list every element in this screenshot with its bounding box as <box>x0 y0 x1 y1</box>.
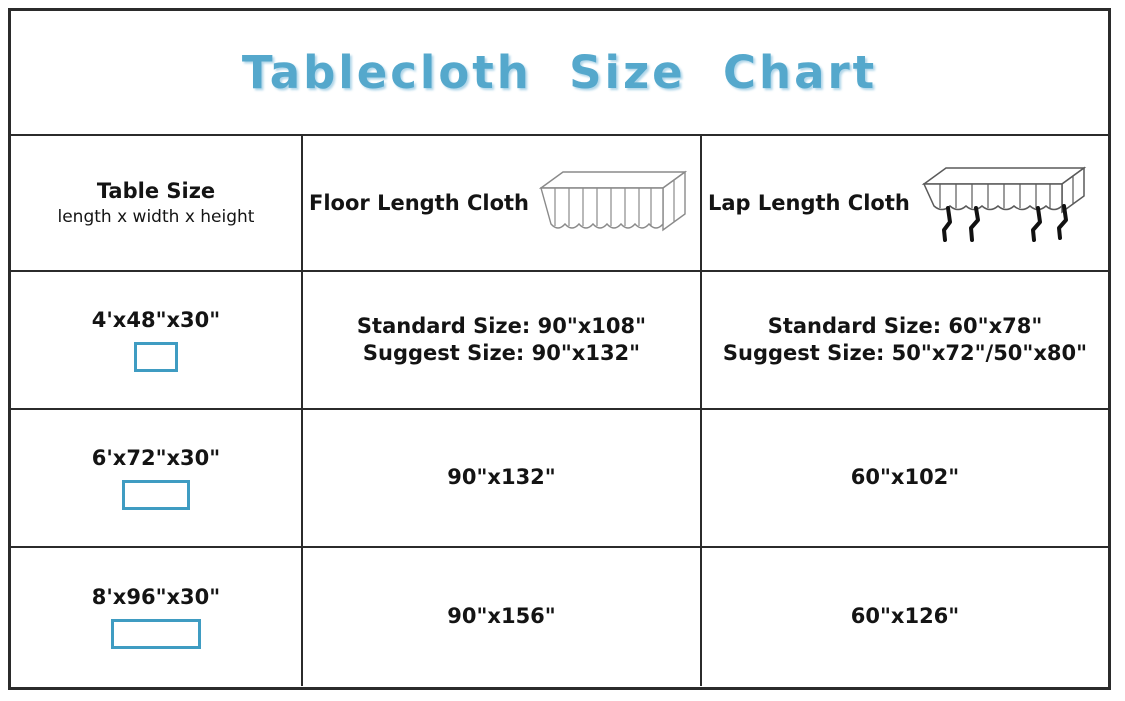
lap-length-suggest-size: Suggest Size: 50"x72"/50"x80" <box>723 340 1087 367</box>
cell-table-size: 4'x48"x30" <box>11 272 303 408</box>
cell-lap-length: 60"x126" <box>702 548 1108 686</box>
table-row: 8'x96"x30" 90"x156" 60"x126" <box>11 548 1108 686</box>
cell-floor-length: 90"x132" <box>303 410 702 546</box>
cell-table-size: 6'x72"x30" <box>11 410 303 546</box>
floor-length-suggest-size: Suggest Size: 90"x132" <box>363 340 640 367</box>
cell-table-size: 8'x96"x30" <box>11 548 303 686</box>
table-footprint-swatch <box>111 619 201 649</box>
floor-length-size: 90"x132" <box>447 464 556 491</box>
lap-length-standard-size: Standard Size: 60"x78" <box>768 313 1043 340</box>
size-table: Table Size length x width x height Floor… <box>11 136 1108 687</box>
tablecloth-size-chart: Tablecloth Size Chart Table Size length … <box>8 8 1111 690</box>
table-size-subtitle: length x width x height <box>58 207 255 228</box>
cell-floor-length: Standard Size: 90"x108" Suggest Size: 90… <box>303 272 702 408</box>
floor-length-label: Floor Length Cloth <box>309 191 529 215</box>
table-size-value: 4'x48"x30" <box>92 308 220 332</box>
floor-length-standard-size: Standard Size: 90"x108" <box>357 313 646 340</box>
floor-length-size: 90"x156" <box>447 603 556 630</box>
table-row: 4'x48"x30" Standard Size: 90"x108" Sugge… <box>11 272 1108 410</box>
cell-lap-length: Standard Size: 60"x78" Suggest Size: 50"… <box>702 272 1108 408</box>
lap-length-table-icon <box>914 160 1094 246</box>
lap-length-size: 60"x126" <box>851 603 960 630</box>
header-cell-floor-length: Floor Length Cloth <box>303 136 702 270</box>
header-cell-table-size: Table Size length x width x height <box>11 136 303 270</box>
header-cell-lap-length: Lap Length Cloth <box>702 136 1108 270</box>
lap-length-label: Lap Length Cloth <box>708 191 910 215</box>
page-title: Tablecloth Size Chart <box>242 46 877 99</box>
lap-length-size: 60"x102" <box>851 464 960 491</box>
title-row: Tablecloth Size Chart <box>11 11 1108 136</box>
floor-length-table-icon <box>533 162 693 244</box>
table-size-value: 6'x72"x30" <box>92 446 220 470</box>
cell-floor-length: 90"x156" <box>303 548 702 686</box>
table-footprint-swatch <box>122 480 190 510</box>
table-size-title: Table Size <box>97 178 215 204</box>
table-header-row: Table Size length x width x height Floor… <box>11 136 1108 272</box>
table-row: 6'x72"x30" 90"x132" 60"x102" <box>11 410 1108 548</box>
table-size-value: 8'x96"x30" <box>92 585 220 609</box>
cell-lap-length: 60"x102" <box>702 410 1108 546</box>
table-footprint-swatch <box>134 342 178 372</box>
